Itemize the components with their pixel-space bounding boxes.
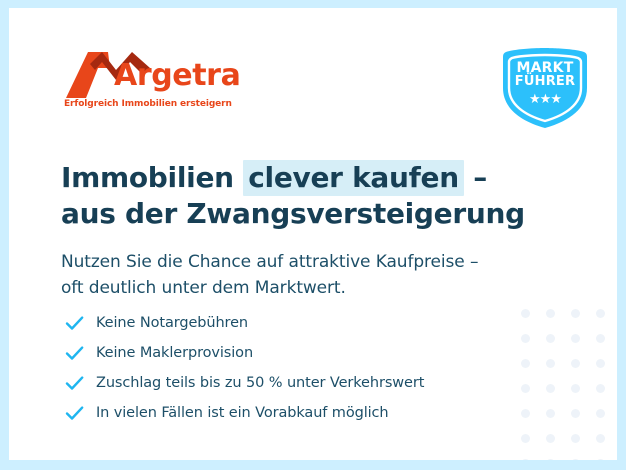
benefit-item: Zuschlag teils bis zu 50 % unter Verkehr… bbox=[61, 368, 531, 398]
benefit-item: Keine Notargebühren bbox=[61, 308, 531, 338]
check-icon bbox=[65, 344, 84, 363]
grid-dot bbox=[596, 459, 605, 460]
grid-dot bbox=[571, 334, 580, 343]
grid-dot bbox=[546, 384, 555, 393]
check-icon bbox=[65, 404, 84, 423]
grid-dot bbox=[546, 409, 555, 418]
grid-dot bbox=[596, 309, 605, 318]
grid-dot bbox=[596, 334, 605, 343]
benefit-item: Keine Maklerprovision bbox=[61, 338, 531, 368]
grid-dot bbox=[596, 434, 605, 443]
grid-dot bbox=[521, 459, 530, 460]
grid-dot bbox=[571, 384, 580, 393]
subheading: Nutzen Sie die Chance auf attraktive Kau… bbox=[61, 249, 581, 302]
grid-dot bbox=[571, 309, 580, 318]
promo-banner: Argetra Erfolgreich Immobilien ersteiger… bbox=[0, 0, 626, 470]
benefit-label: Zuschlag teils bis zu 50 % unter Verkehr… bbox=[96, 375, 424, 391]
market-leader-badge: MARKT FÜHRER ★★★ bbox=[498, 46, 592, 130]
subheading-line-2: oft deutlich unter dem Marktwert. bbox=[61, 275, 581, 301]
dot-grid-decoration bbox=[521, 309, 617, 460]
benefits-list: Keine Notargebühren Keine Maklerprovisio… bbox=[61, 308, 531, 428]
grid-dot bbox=[546, 359, 555, 368]
subheading-line-1: Nutzen Sie die Chance auf attraktive Kau… bbox=[61, 249, 581, 275]
check-icon bbox=[65, 374, 84, 393]
headline-line-2: aus der Zwangsversteigerung bbox=[61, 196, 581, 232]
grid-dot bbox=[521, 434, 530, 443]
grid-dot bbox=[546, 459, 555, 460]
logo-wordmark: Argetra bbox=[114, 61, 240, 91]
banner-content: Argetra Erfolgreich Immobilien ersteiger… bbox=[9, 8, 617, 460]
grid-dot bbox=[571, 359, 580, 368]
grid-dot bbox=[596, 384, 605, 393]
grid-dot bbox=[571, 409, 580, 418]
check-icon bbox=[65, 314, 84, 333]
shield-icon bbox=[498, 46, 592, 130]
grid-dot bbox=[546, 334, 555, 343]
benefit-label: Keine Maklerprovision bbox=[96, 345, 253, 361]
headline-post: – bbox=[464, 161, 487, 194]
grid-dot bbox=[546, 309, 555, 318]
headline-highlight: clever kaufen bbox=[243, 160, 464, 196]
grid-dot bbox=[571, 434, 580, 443]
logo-tagline: Erfolgreich Immobilien ersteigern bbox=[64, 99, 232, 109]
argetra-logo[interactable]: Argetra Erfolgreich Immobilien ersteiger… bbox=[64, 50, 214, 112]
grid-dot bbox=[596, 359, 605, 368]
grid-dot bbox=[546, 434, 555, 443]
benefit-item: In vielen Fällen ist ein Vorabkauf mögli… bbox=[61, 398, 531, 428]
grid-dot bbox=[571, 459, 580, 460]
headline-pre: Immobilien bbox=[61, 161, 243, 194]
headline: Immobilien clever kaufen – aus der Zwang… bbox=[61, 160, 581, 233]
benefit-label: Keine Notargebühren bbox=[96, 315, 248, 331]
benefit-label: In vielen Fällen ist ein Vorabkauf mögli… bbox=[96, 405, 389, 421]
grid-dot bbox=[596, 409, 605, 418]
